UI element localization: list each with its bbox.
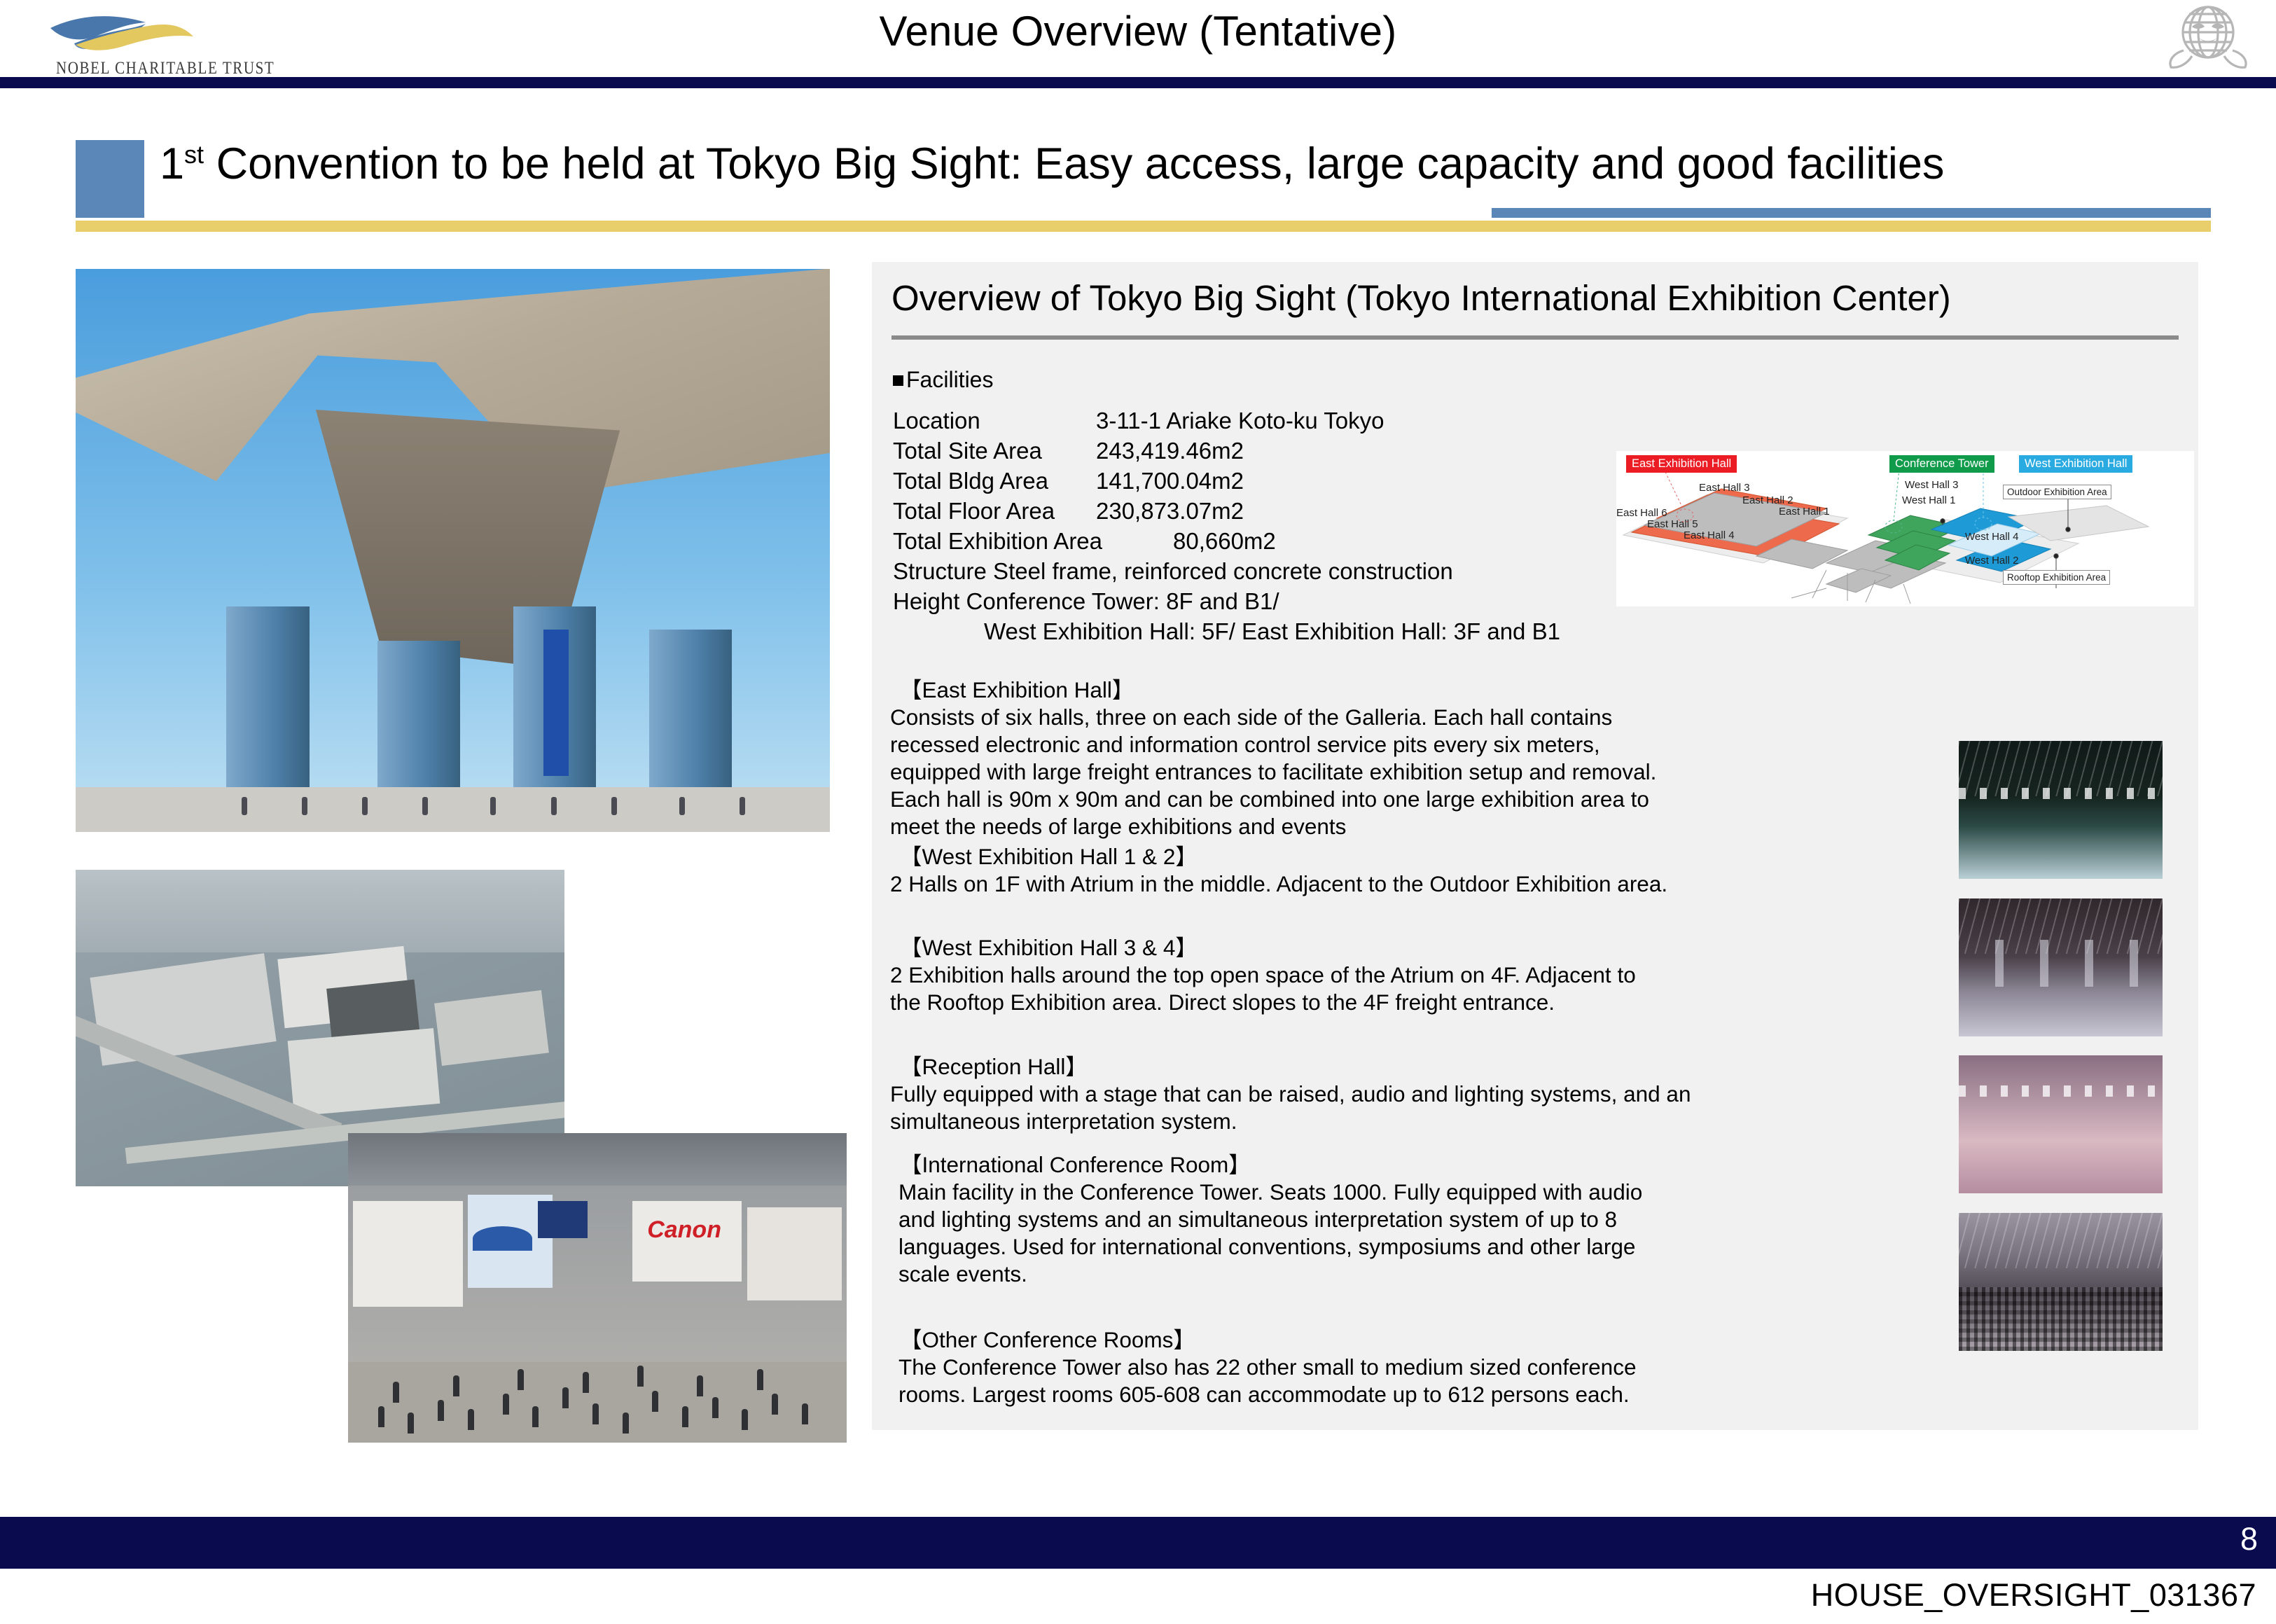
diagram-label-east-hall-2: East Hall 2 xyxy=(1742,494,1793,506)
section-heading: 【West Exhibition Hall 3 & 4】 xyxy=(890,934,1793,962)
footer-bar xyxy=(0,1517,2276,1569)
table-row: Total Site Area243,419.46m2 xyxy=(893,436,1593,466)
section-heading: 【Other Conference Rooms】 xyxy=(890,1326,1793,1354)
table-row: Location3-11-1 Ariake Koto-ku Tokyo xyxy=(893,405,1593,436)
section-line: recessed electronic and information cont… xyxy=(890,731,1793,758)
height-line-1: Height Conference Tower: 8F and B1/ xyxy=(893,586,1593,616)
diagram-box-outdoor-area: Outdoor Exhibition Area xyxy=(2003,485,2111,499)
heading-text: 1st Convention to be held at Tokyo Big S… xyxy=(160,139,2233,189)
diagram-tag-tower: Conference Tower xyxy=(1889,455,1994,473)
section-west-exhibition-hall-1-2: 【West Exhibition Hall 1 & 2】 2 Halls on … xyxy=(890,843,1793,898)
bullet-square-icon xyxy=(893,375,903,386)
section-line: Consists of six halls, three on each sid… xyxy=(890,704,1793,731)
section-other-conference-rooms: 【Other Conference Rooms】 The Conference … xyxy=(890,1326,1793,1408)
heading-rest: Convention to be held at Tokyo Big Sight… xyxy=(204,139,1944,188)
diagram-label-east-hall-3: East Hall 3 xyxy=(1699,482,1750,494)
facility-key: Total Exhibition Area xyxy=(893,526,1173,556)
photo-exhibition-floor: Canon xyxy=(348,1133,847,1443)
heading-gold-bar xyxy=(76,221,2211,232)
section-line: The Conference Tower also has 22 other s… xyxy=(890,1354,1793,1381)
section-heading: 【West Exhibition Hall 1 & 2】 xyxy=(890,843,1793,870)
table-row: Total Exhibition Area80,660m2 xyxy=(893,526,1593,556)
panel-title: Overview of Tokyo Big Sight (Tokyo Inter… xyxy=(891,277,1951,319)
facilities-heading: Facilities xyxy=(893,367,993,393)
page-number: 8 xyxy=(2240,1521,2258,1557)
diagram-label-east-hall-1: East Hall 1 xyxy=(1779,506,1830,518)
facility-value: 243,419.46m2 xyxy=(1096,436,1244,466)
facilities-table: Location3-11-1 Ariake Koto-ku Tokyo Tota… xyxy=(893,405,1593,646)
diagram-label-east-hall-6: East Hall 6 xyxy=(1616,507,1667,519)
structure-line: Structure Steel frame, reinforced concre… xyxy=(893,556,1593,586)
diagram-label-west-hall-2: West Hall 2 xyxy=(1965,555,2018,567)
section-heading: 【East Exhibition Hall】 xyxy=(890,676,1793,704)
page-title: Venue Overview (Tentative) xyxy=(0,7,2276,55)
diagram-tag-west: West Exhibition Hall xyxy=(2019,455,2132,473)
panel-divider xyxy=(891,335,2179,340)
section-line: scale events. xyxy=(890,1261,1793,1288)
facility-value: 3-11-1 Ariake Koto-ku Tokyo xyxy=(1096,405,1385,436)
section-line: the Rooftop Exhibition area. Direct slop… xyxy=(890,989,1793,1016)
diagram-label-west-hall-3: West Hall 3 xyxy=(1905,479,1958,491)
heading-accent-square xyxy=(76,140,144,210)
section-west-exhibition-hall-3-4: 【West Exhibition Hall 3 & 4】 2 Exhibitio… xyxy=(890,934,1793,1016)
section-international-conference-room: 【International Conference Room】 Main fac… xyxy=(890,1151,1793,1288)
facility-value: 230,873.07m2 xyxy=(1096,496,1244,526)
bates-number: HOUSE_OVERSIGHT_031367 xyxy=(1811,1577,2256,1613)
diagram-tag-east: East Exhibition Hall xyxy=(1626,455,1737,473)
section-line: and lighting systems and an simultaneous… xyxy=(890,1206,1793,1233)
section-line: Each hall is 90m x 90m and can be combin… xyxy=(890,786,1793,813)
slide-canvas: NOBEL CHARITABLE TRUST Venue Overview (T… xyxy=(0,0,2276,1624)
section-heading: 【Reception Hall】 xyxy=(890,1053,1793,1081)
facility-key: Total Bldg Area xyxy=(893,466,1096,496)
header-divider-bar xyxy=(0,77,2276,88)
heading-prefix: 1 xyxy=(160,139,184,188)
heading-blue-bar-left xyxy=(76,208,144,218)
section-line: Main facility in the Conference Tower. S… xyxy=(890,1179,1793,1206)
thumbnail-reception-hall xyxy=(1959,1055,2163,1193)
thumbnail-exhibition-hall-columns xyxy=(1959,898,2163,1036)
facility-key: Total Site Area xyxy=(893,436,1096,466)
venue-3d-diagram: East Exhibition Hall Conference Tower We… xyxy=(1616,451,2194,606)
section-east-exhibition-hall: 【East Exhibition Hall】 Consists of six h… xyxy=(890,676,1793,840)
table-row: Total Bldg Area141,700.04m2 xyxy=(893,466,1593,496)
heading-blue-bar-right xyxy=(1492,208,2211,218)
heading-ordinal-suffix: st xyxy=(184,140,204,169)
height-line-2: West Exhibition Hall: 5F/ East Exhibitio… xyxy=(893,616,1593,646)
logo-wordmark: NOBEL CHARITABLE TRUST xyxy=(56,57,275,79)
section-line: equipped with large freight entrances to… xyxy=(890,758,1793,786)
section-line: 2 Halls on 1F with Atrium in the middle.… xyxy=(890,870,1793,898)
section-line: meet the needs of large exhibitions and … xyxy=(890,813,1793,840)
facility-key: Total Floor Area xyxy=(893,496,1096,526)
diagram-label-east-hall-5: East Hall 5 xyxy=(1647,518,1698,530)
section-line: simultaneous interpretation system. xyxy=(890,1108,1793,1135)
section-line: rooms. Largest rooms 605-608 can accommo… xyxy=(890,1381,1793,1408)
thumbnail-empty-exhibition-hall xyxy=(1959,741,2163,879)
thumbnail-conference-auditorium xyxy=(1959,1213,2163,1351)
diagram-label-west-hall-1: West Hall 1 xyxy=(1902,494,1955,506)
section-line: languages. Used for international conven… xyxy=(890,1233,1793,1261)
facility-value: 141,700.04m2 xyxy=(1096,466,1244,496)
globe-laurel-icon xyxy=(2156,1,2261,74)
facilities-heading-label: Facilities xyxy=(906,367,993,392)
facility-key: Location xyxy=(893,405,1096,436)
diagram-box-rooftop-area: Rooftop Exhibition Area xyxy=(2003,570,2110,585)
section-heading: 【International Conference Room】 xyxy=(890,1151,1793,1179)
diagram-label-east-hall-4: East Hall 4 xyxy=(1684,529,1735,541)
diagram-label-west-hall-4: West Hall 4 xyxy=(1965,531,2018,543)
photo-conference-tower-exterior xyxy=(76,269,830,832)
section-reception-hall: 【Reception Hall】 Fully equipped with a s… xyxy=(890,1053,1793,1135)
facility-value: 80,660m2 xyxy=(1173,526,1276,556)
section-line: 2 Exhibition halls around the top open s… xyxy=(890,962,1793,989)
section-line: Fully equipped with a stage that can be … xyxy=(890,1081,1793,1108)
table-row: Total Floor Area230,873.07m2 xyxy=(893,496,1593,526)
